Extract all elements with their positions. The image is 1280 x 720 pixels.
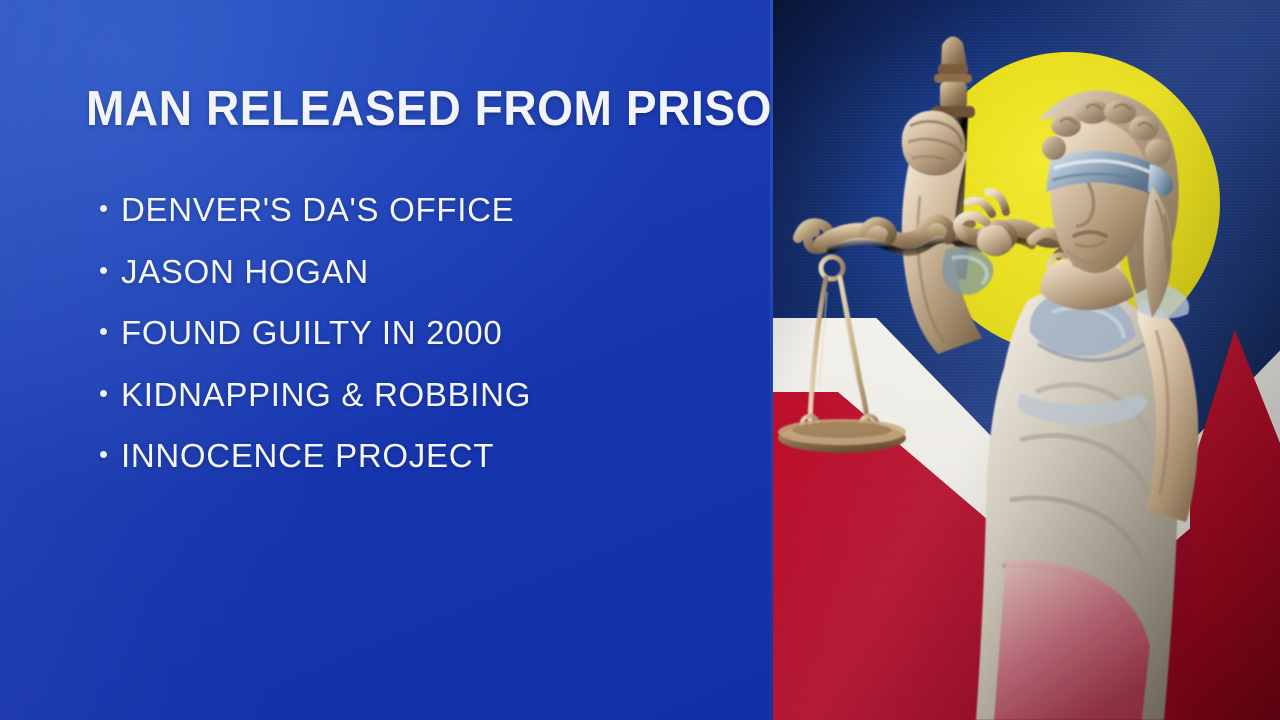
list-item: FOUND GUILTY IN 2000 xyxy=(100,314,760,376)
artwork-panel xyxy=(770,0,1280,720)
bullet-dot-icon xyxy=(100,390,107,397)
list-item-label: FOUND GUILTY IN 2000 xyxy=(121,314,502,352)
list-item-label: JASON HOGAN xyxy=(121,253,369,291)
panel-divider xyxy=(770,0,773,720)
list-item: JASON HOGAN xyxy=(100,253,760,315)
bullet-list: DENVER'S DA'S OFFICE JASON HOGAN FOUND G… xyxy=(100,191,760,499)
list-item-label: DENVER'S DA'S OFFICE xyxy=(121,191,514,229)
list-item: DENVER'S DA'S OFFICE xyxy=(100,191,760,253)
list-item-label: KIDNAPPING & ROBBING xyxy=(121,376,531,414)
list-item: KIDNAPPING & ROBBING xyxy=(100,376,760,438)
page-title: MAN RELEASED FROM PRISON xyxy=(86,84,725,135)
bullet-dot-icon xyxy=(100,451,107,458)
left-text-panel: MAN RELEASED FROM PRISON DENVER'S DA'S O… xyxy=(0,0,770,720)
bullet-dot-icon xyxy=(100,328,107,335)
list-item: INNOCENCE PROJECT xyxy=(100,437,760,499)
list-item-label: INNOCENCE PROJECT xyxy=(121,437,494,475)
bullet-dot-icon xyxy=(100,267,107,274)
lady-justice-statue xyxy=(770,0,1280,720)
bullet-dot-icon xyxy=(100,205,107,212)
news-graphic-screen: MAN RELEASED FROM PRISON DENVER'S DA'S O… xyxy=(0,0,1280,720)
